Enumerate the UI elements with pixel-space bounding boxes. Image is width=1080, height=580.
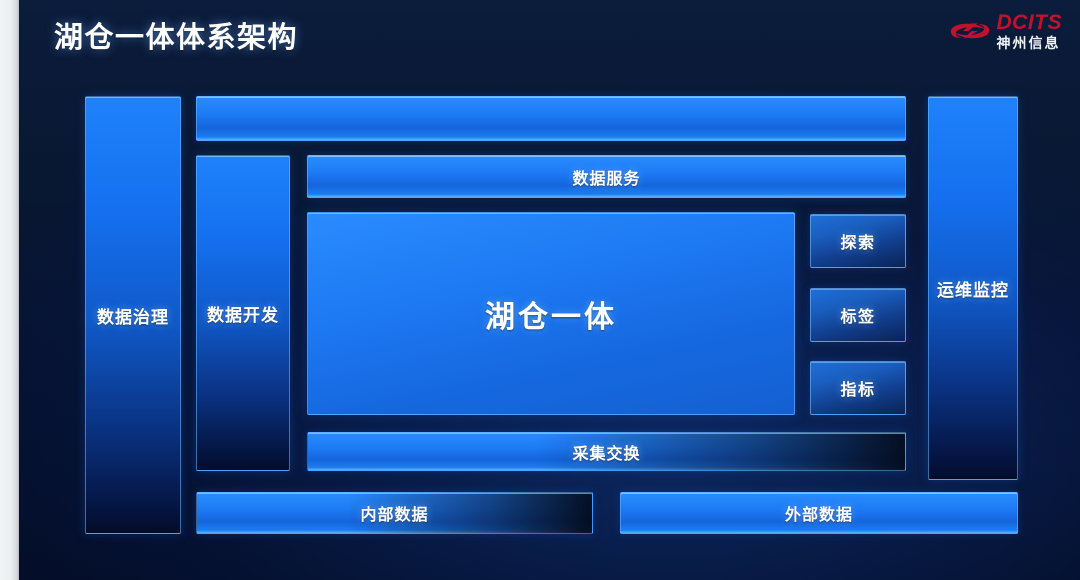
- chip-metrics-label: 指标: [840, 376, 875, 400]
- pillar-data-development-label: 数据开发: [207, 301, 279, 326]
- bar-internal-data-label: 内部数据: [360, 501, 428, 525]
- bar-collection-exchange-label: 采集交换: [572, 440, 640, 464]
- bar-data-portal[interactable]: [196, 96, 906, 141]
- pillar-data-governance-label: 数据治理: [97, 303, 169, 328]
- bar-data-service[interactable]: 数据服务: [307, 155, 906, 198]
- chip-tags[interactable]: 标签: [810, 288, 906, 342]
- pillar-ops-monitoring-label: 运维监控: [937, 276, 1009, 301]
- brand-subtitle: 神州信息: [997, 36, 1061, 50]
- brand-logo: DCITS 神州信息: [948, 12, 1063, 50]
- bar-external-data-label: 外部数据: [785, 501, 853, 525]
- slide-canvas: 湖仓一体体系架构 DCITS 神州信息 数据治理 数据开发 数据服务 湖仓一体: [0, 0, 1080, 580]
- chip-explore[interactable]: 探索: [810, 214, 906, 268]
- brand-name: DCITS: [997, 12, 1063, 33]
- page-title: 湖仓一体体系架构: [54, 14, 298, 56]
- brand-text: DCITS 神州信息: [997, 12, 1063, 50]
- bar-internal-data[interactable]: 内部数据: [196, 492, 593, 534]
- panel-lakehouse-label: 湖仓一体: [485, 292, 617, 336]
- chip-explore-label: 探索: [840, 229, 875, 253]
- chip-metrics[interactable]: 指标: [810, 361, 906, 415]
- pillar-data-governance[interactable]: 数据治理: [85, 96, 181, 534]
- dcits-swirl-icon: [948, 14, 992, 48]
- bar-collection-exchange[interactable]: 采集交换: [307, 432, 906, 471]
- pillar-data-development[interactable]: 数据开发: [196, 155, 290, 471]
- pillar-ops-monitoring[interactable]: 运维监控: [928, 96, 1018, 480]
- panel-lakehouse[interactable]: 湖仓一体: [307, 212, 795, 415]
- slide-left-edge-strip: [0, 0, 19, 580]
- chip-tags-label: 标签: [840, 303, 875, 327]
- bar-external-data[interactable]: 外部数据: [620, 492, 1018, 534]
- bar-data-service-label: 数据服务: [572, 165, 640, 189]
